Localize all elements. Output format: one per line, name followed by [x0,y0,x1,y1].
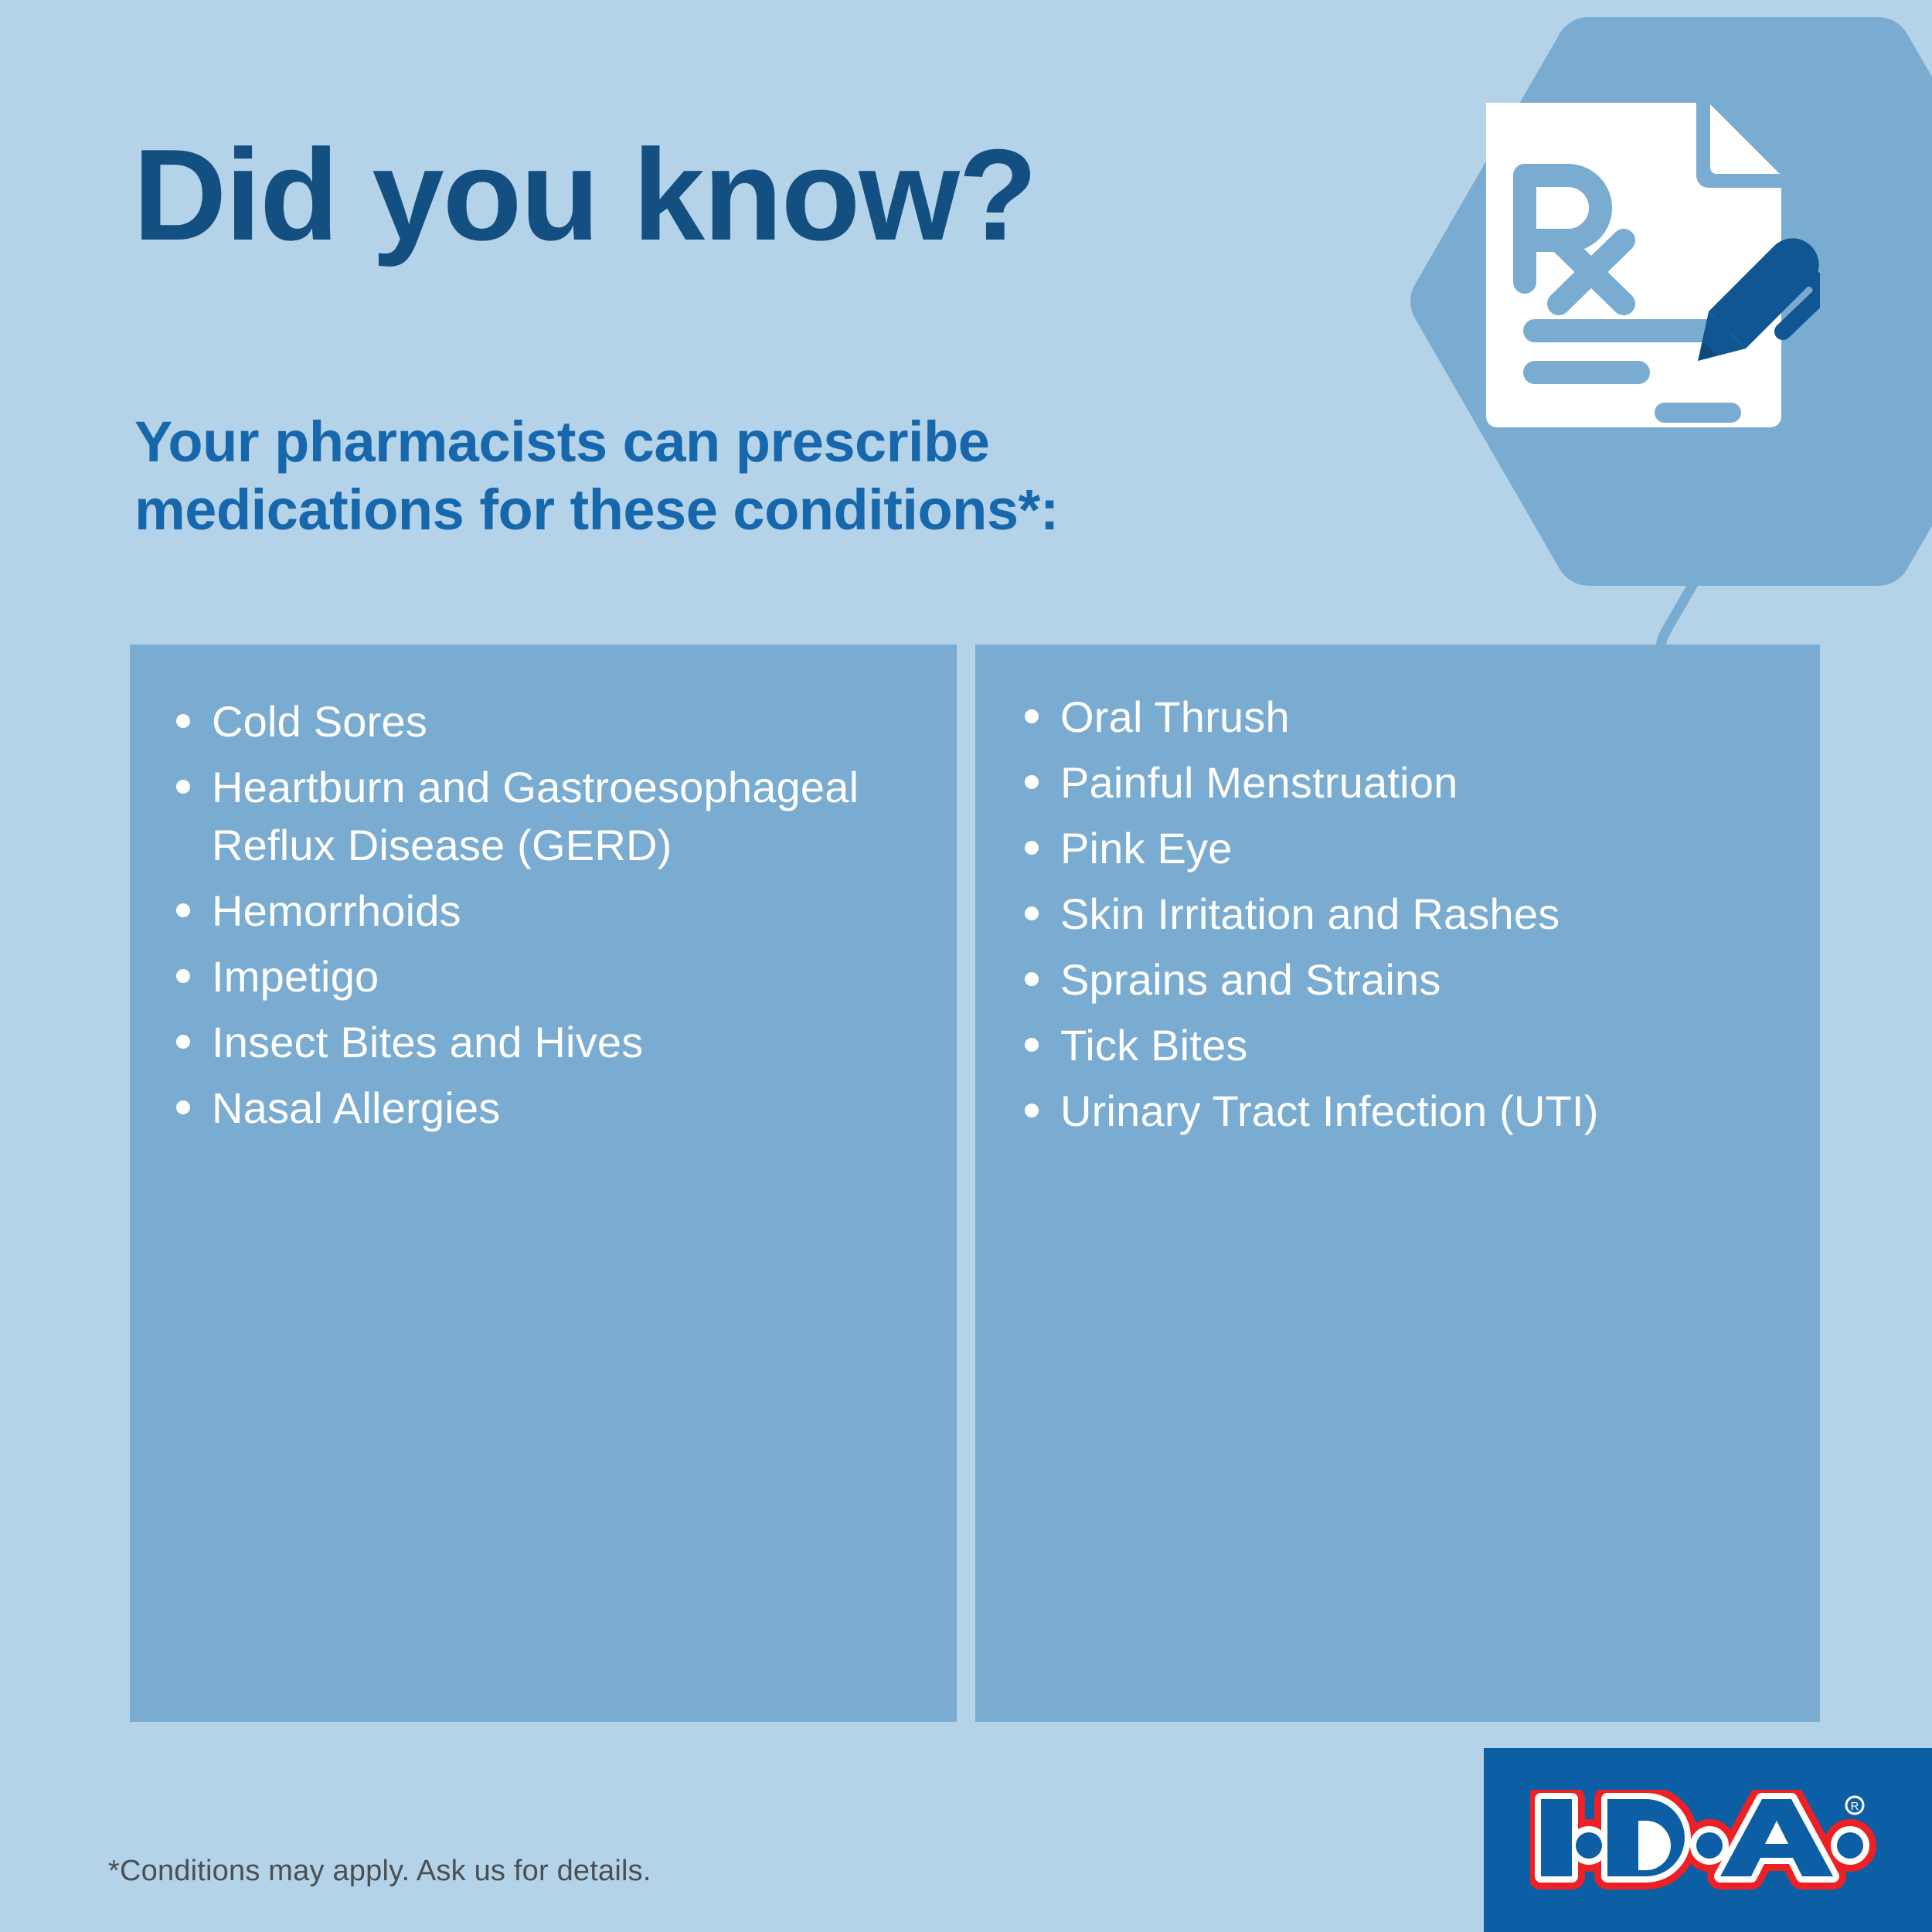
page-title: Did you know? [133,130,1036,260]
list-item: Hemorrhoids [175,882,926,940]
conditions-panel-right: Oral Thrush Painful Menstruation Pink Ey… [975,645,1820,1722]
list-item: Impetigo [175,947,926,1005]
list-item: Insect Bites and Hives [175,1013,926,1071]
prescription-document-icon [1472,89,1820,437]
list-item: Painful Menstruation [1023,753,1789,811]
registered-trademark-icon: R [1846,1797,1863,1814]
list-item: Tick Bites [1023,1016,1789,1074]
subtitle-line-2: medications for these conditions*: [134,476,1059,544]
conditions-list-left: Cold Sores Heartburn and Gastroesophagea… [130,645,957,1137]
conditions-list-right: Oral Thrush Painful Menstruation Pink Ey… [975,645,1820,1140]
list-item: Oral Thrush [1023,688,1789,746]
list-item: Cold Sores [175,692,926,750]
ida-logo-plate: R [1484,1748,1932,1932]
document-signature-line [1655,403,1741,423]
conditions-panel-left: Cold Sores Heartburn and Gastroesophagea… [130,645,957,1722]
list-item: Sprains and Strains [1023,951,1789,1009]
list-item: Urinary Tract Infection (UTI) [1023,1082,1789,1140]
list-item: Nasal Allergies [175,1079,926,1137]
svg-text:R: R [1851,1800,1859,1813]
poster-canvas: Did you know? Your pharmacists can presc… [0,0,1932,1932]
page-subtitle: Your pharmacists can prescribe medicatio… [134,408,1059,544]
document-folded-corner [1710,104,1780,174]
subtitle-line-1: Your pharmacists can prescribe [134,408,1059,476]
list-item: Pink Eye [1023,819,1789,877]
document-line-2 [1523,361,1650,384]
document-line-1 [1523,319,1730,342]
disclaimer-text: *Conditions may apply. Ask us for detail… [108,1855,651,1888]
list-item: Heartburn and Gastroesophageal Reflux Di… [175,758,926,874]
list-item: Skin Irritation and Rashes [1023,885,1789,943]
ida-logo-icon: R [1530,1790,1886,1890]
